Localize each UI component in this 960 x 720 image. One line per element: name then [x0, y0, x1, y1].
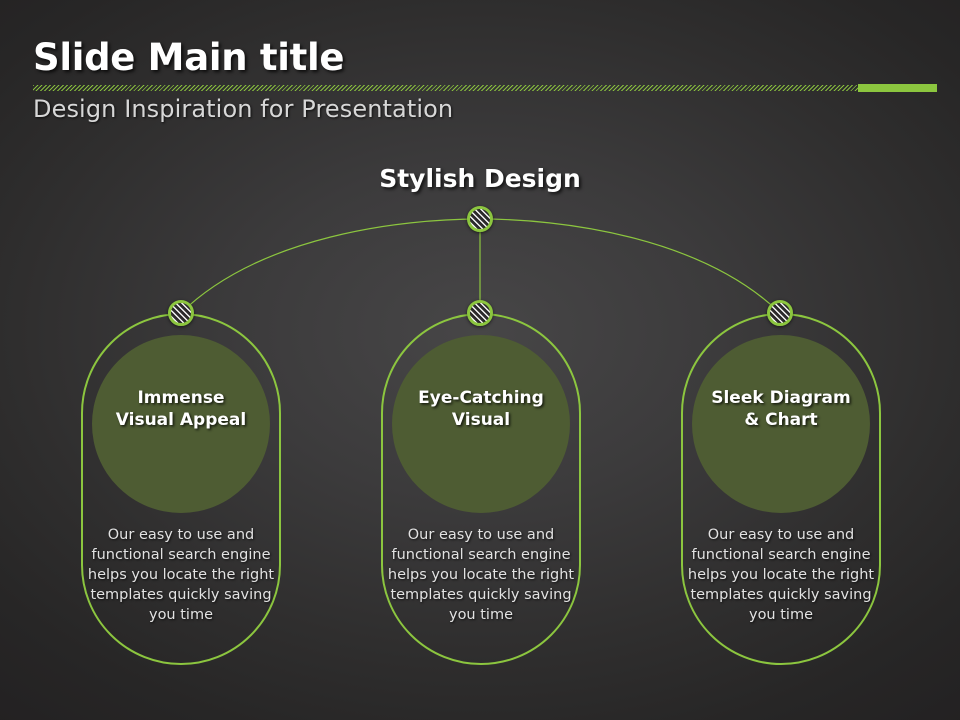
branch-node-icon-3[interactable] — [767, 300, 793, 326]
connector-arc — [181, 219, 780, 313]
diagram-card-1[interactable]: Immense Visual Appeal Our easy to use an… — [81, 313, 281, 665]
card-title: Sleek Diagram & Chart — [681, 387, 881, 431]
card-body-text: Our easy to use and functional search en… — [387, 525, 575, 625]
apex-node-icon[interactable] — [467, 206, 493, 232]
card-body-text: Our easy to use and functional search en… — [87, 525, 275, 625]
diagram-card-3[interactable]: Sleek Diagram & Chart Our easy to use an… — [681, 313, 881, 665]
card-title: Immense Visual Appeal — [81, 387, 281, 431]
page-subtitle: Design Inspiration for Presentation — [33, 95, 453, 123]
divider-hatched-line — [33, 85, 858, 91]
diagram-card-2[interactable]: Eye-Catching Visual Our easy to use and … — [381, 313, 581, 665]
branch-node-icon-1[interactable] — [168, 300, 194, 326]
slide-header: Slide Main title Design Inspiration for … — [0, 0, 960, 140]
divider-accent-bar — [858, 84, 937, 92]
slide-canvas: Slide Main title Design Inspiration for … — [0, 0, 960, 720]
branch-node-icon-2[interactable] — [467, 300, 493, 326]
card-body-text: Our easy to use and functional search en… — [687, 525, 875, 625]
diagram-heading: Stylish Design — [0, 164, 960, 193]
header-divider — [33, 84, 937, 92]
card-title: Eye-Catching Visual — [381, 387, 581, 431]
page-title: Slide Main title — [33, 36, 344, 79]
